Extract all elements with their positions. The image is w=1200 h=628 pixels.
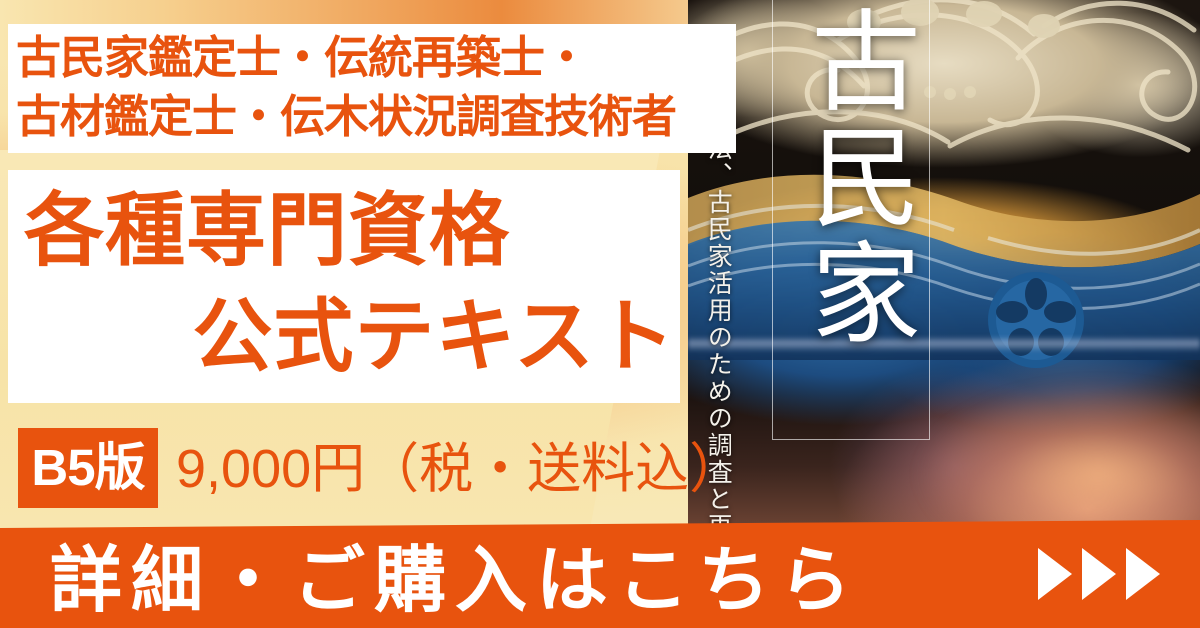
chevron-right-icon-3 bbox=[1126, 548, 1160, 600]
main-title-line-1: 各種専門資格 bbox=[24, 178, 680, 284]
promo-banner: 古民家 伝統構法、古民家活用のための調査と再生の 古民家鑑定士・伝統再築士・ 古… bbox=[0, 0, 1200, 628]
qualifications-line-2: 古材鑑定士・伝木状況調査技術者 bbox=[16, 87, 740, 146]
qualifications-text: 古民家鑑定士・伝統再築士・ 古材鑑定士・伝木状況調査技術者 bbox=[16, 28, 740, 147]
main-title-line-2: 公式テキスト bbox=[24, 284, 680, 390]
qualifications-line-1: 古民家鑑定士・伝統再築士・ bbox=[16, 28, 740, 87]
size-badge: B5版 bbox=[18, 428, 158, 508]
cover-light-sheen bbox=[688, 336, 1200, 352]
chevron-right-icon-2 bbox=[1082, 548, 1116, 600]
cover-title-vertical: 古民家 bbox=[784, 4, 918, 352]
chevron-right-icon-1 bbox=[1038, 548, 1072, 600]
cta-arrow-group[interactable] bbox=[1038, 548, 1160, 600]
book-cover-image: 古民家 伝統構法、古民家活用のための調査と再生の bbox=[688, 0, 1200, 530]
cta-label[interactable]: 詳細・ご購入はこちら bbox=[50, 534, 1060, 628]
main-title: 各種専門資格 公式テキスト bbox=[24, 178, 680, 391]
price-text: 9,000円（税・送料込） bbox=[176, 429, 743, 509]
